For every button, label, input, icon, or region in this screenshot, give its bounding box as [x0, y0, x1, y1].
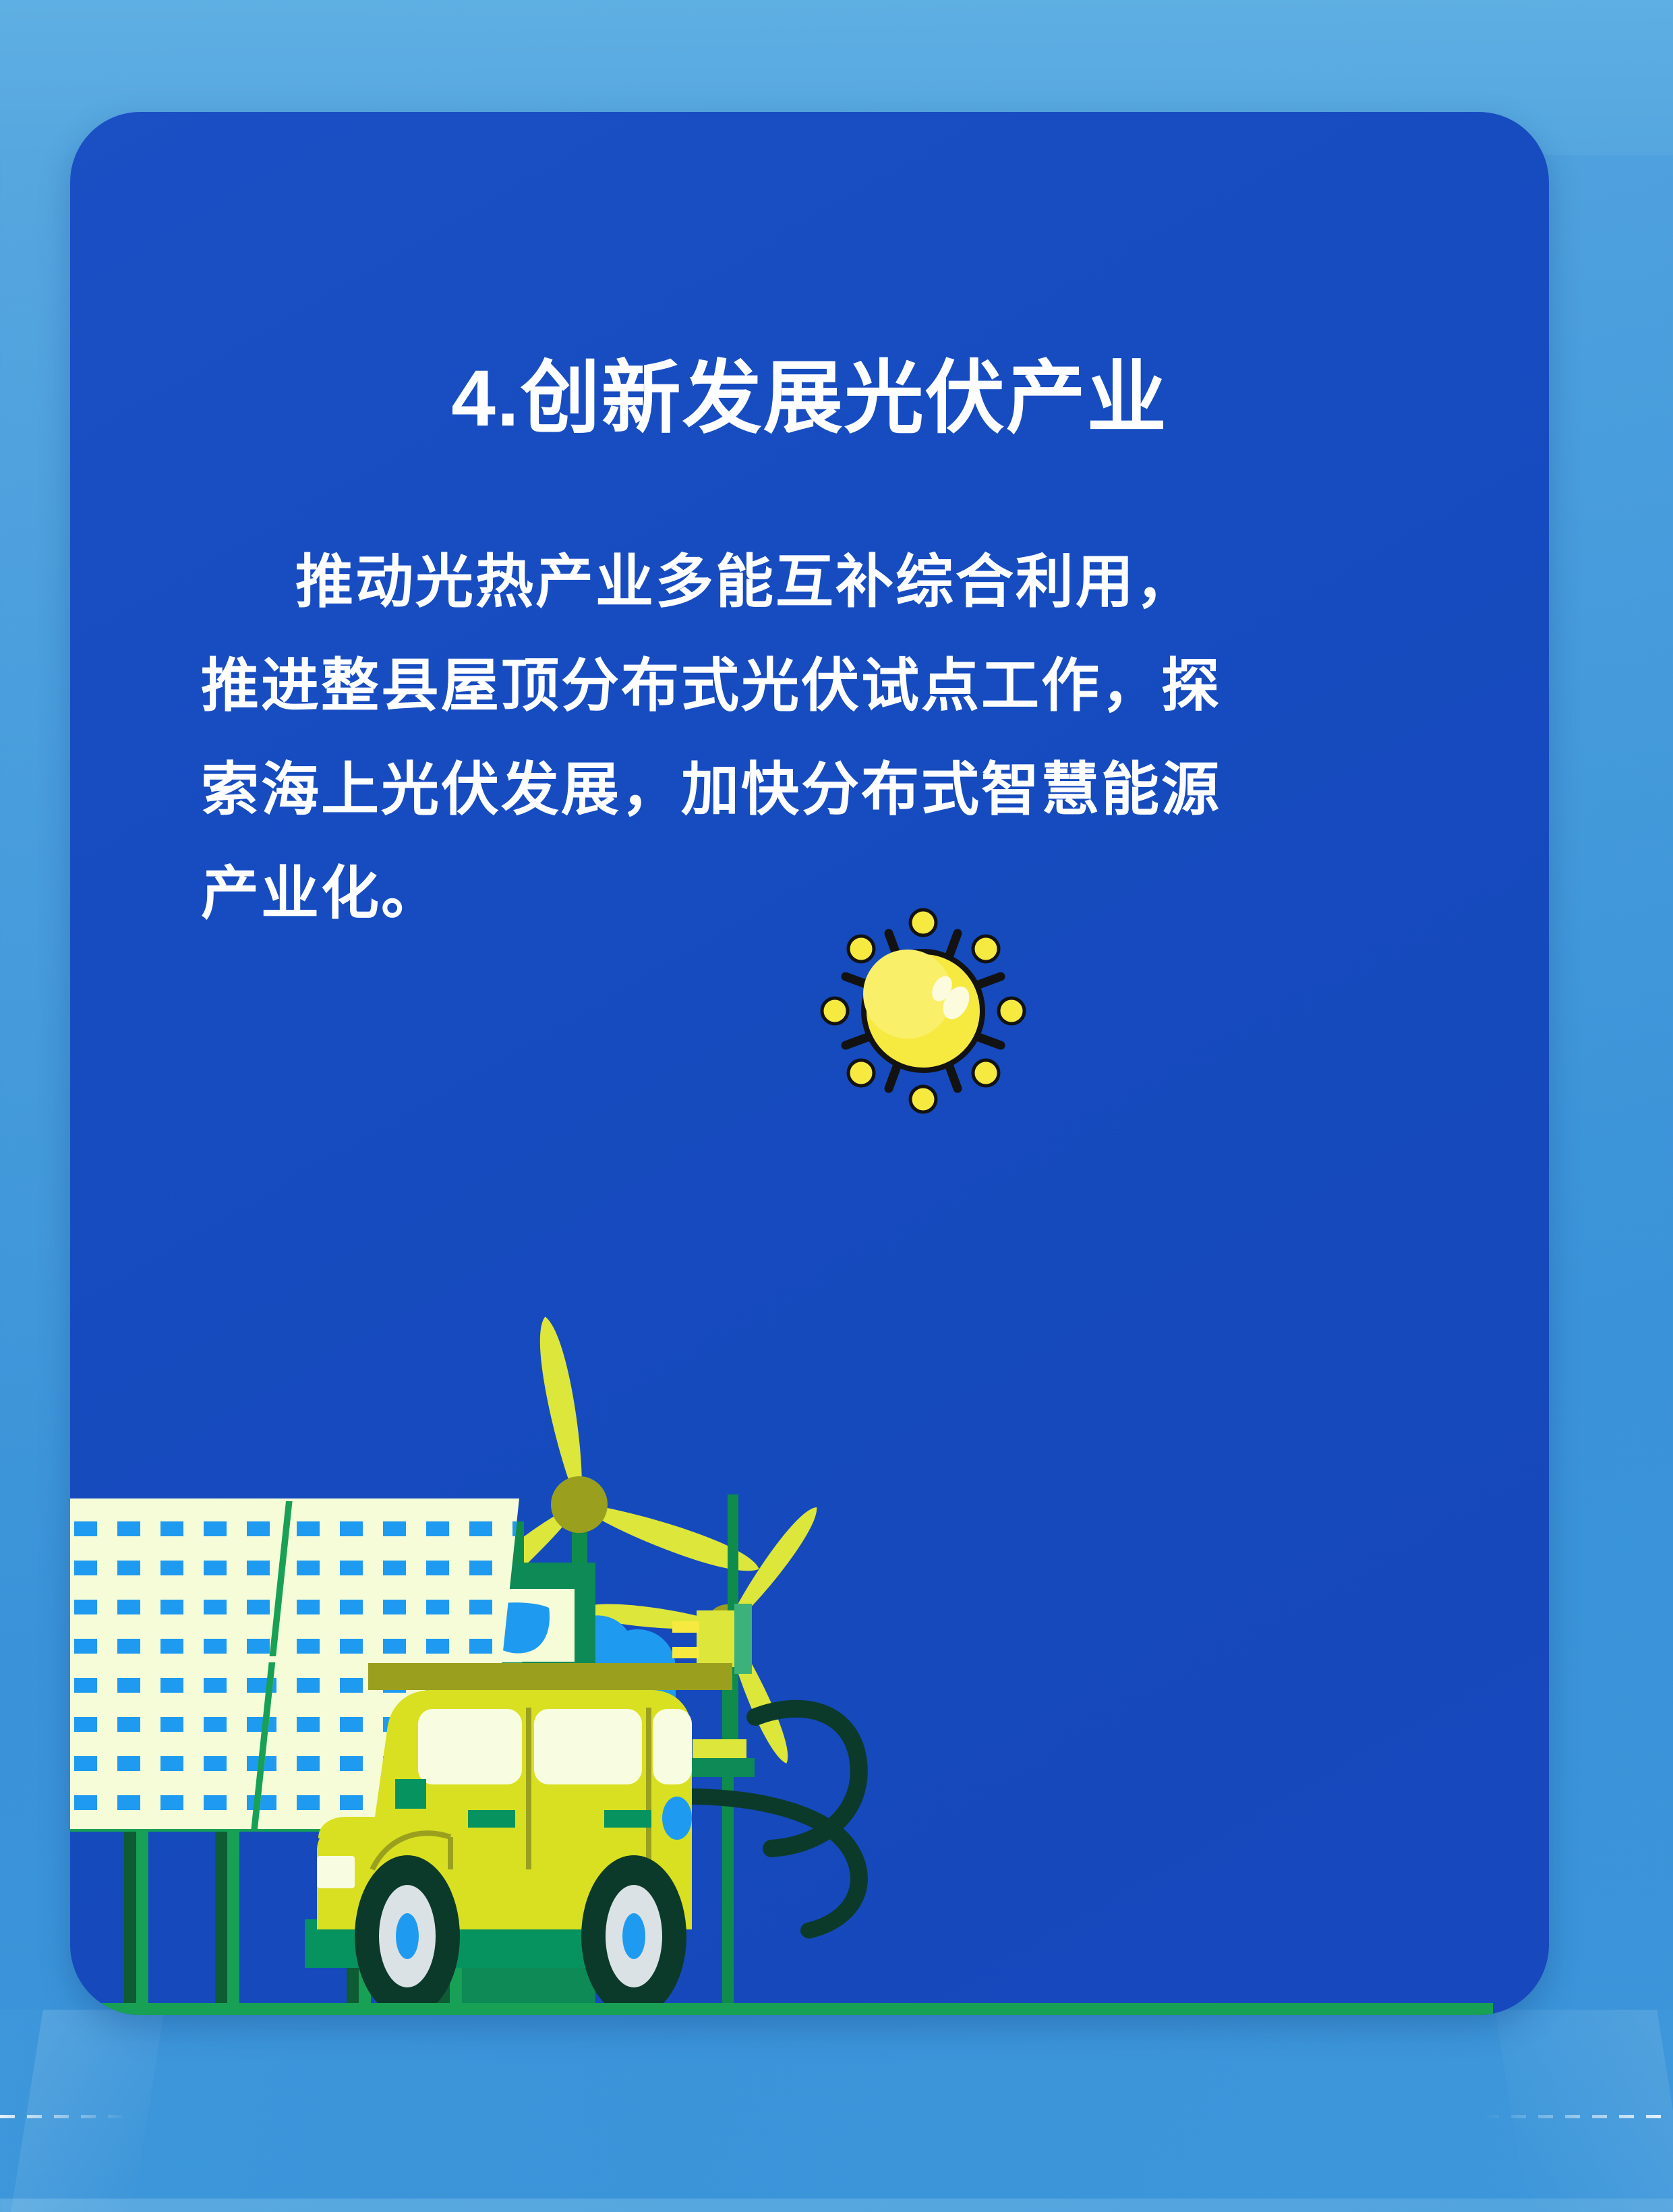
- dashed-rule-left: [0, 2115, 128, 2118]
- card-shadow-right: [1495, 2010, 1673, 2212]
- content-card: 4.创新发展光伏产业 推动光热产业多能互补综合利用， 推进整县屋顶分布式光伏试点…: [70, 112, 1549, 2015]
- ground-line: [90, 2003, 1493, 2015]
- illustration-scene: [70, 1124, 1549, 2015]
- page-title: 4.创新发展光伏产业: [70, 359, 1549, 438]
- sun-icon: [805, 893, 1041, 1129]
- car-wheel-front: [355, 1855, 460, 2015]
- car-wheel-rear: [581, 1855, 686, 2015]
- body-line-2: 推进整县屋顶分布式光伏试点工作，探: [201, 634, 1432, 738]
- body-line-1: 推动光热产业多能互补综合利用，: [201, 530, 1432, 634]
- body-paragraph: 推动光热产业多能互补综合利用， 推进整县屋顶分布式光伏试点工作，探 索海上光伏发…: [201, 530, 1432, 945]
- body-line-3: 索海上光伏发展，加快分布式智慧能源: [201, 738, 1432, 842]
- background-bottom-band: [0, 2010, 1673, 2199]
- dashed-rule-right: [1484, 2115, 1673, 2118]
